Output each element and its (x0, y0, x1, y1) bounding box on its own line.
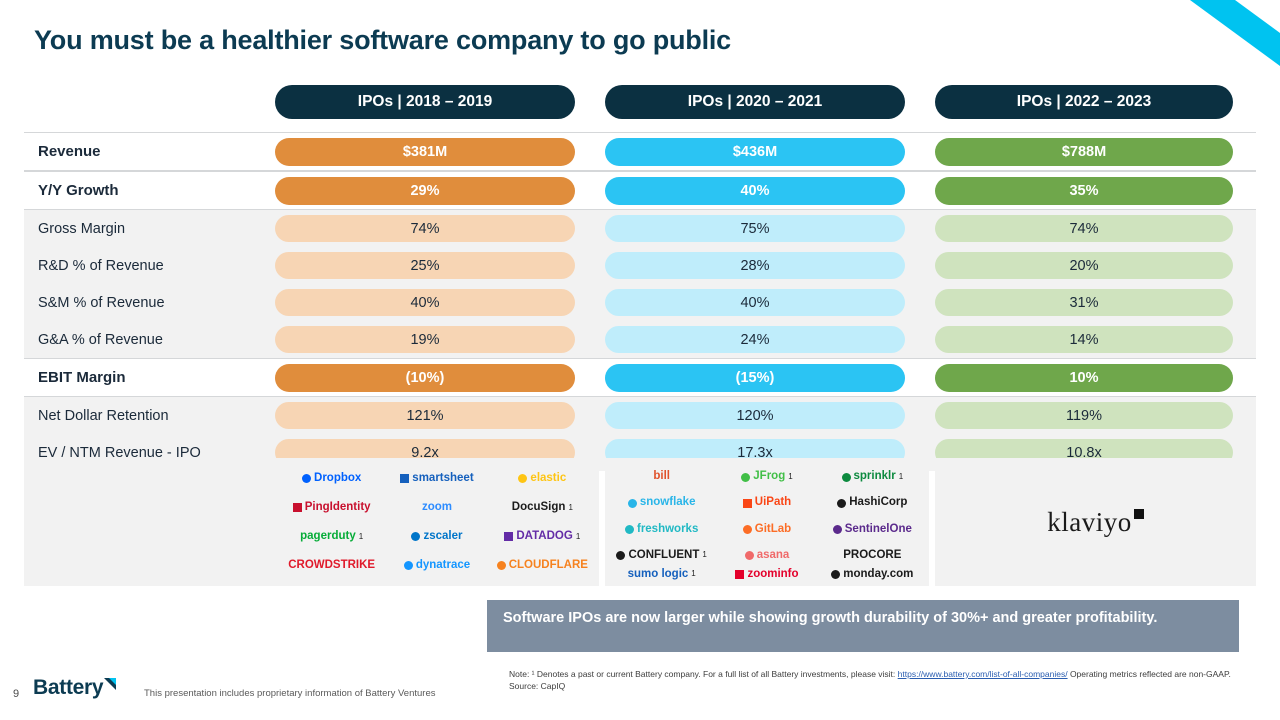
logo-item: CONFLUENT1 (616, 550, 706, 562)
logo-label: HashiCorp (849, 497, 907, 509)
logo-item: DocuSign1 (512, 502, 573, 514)
page-title: You must be a healthier software company… (34, 25, 731, 56)
table-cell: 120% (605, 402, 905, 429)
logo-item: zoom (422, 502, 452, 514)
logo-item: elastic (518, 473, 566, 485)
logo-label: freshworks (637, 524, 698, 536)
logo-glyph-icon (842, 473, 851, 482)
logo-label: dynatrace (416, 560, 470, 572)
logo-footnote-marker: 1 (691, 570, 695, 578)
logo-item: SentinelOne (833, 524, 912, 536)
table-cell: 29% (275, 177, 575, 205)
source-note-prefix: Note: ¹ Denotes a past or current Batter… (509, 669, 895, 679)
logo-glyph-icon (411, 532, 420, 541)
logo-glyph-icon (741, 473, 750, 482)
logo-item: dynatrace (404, 560, 470, 572)
logo-label: zscaler (423, 531, 462, 543)
logo-glyph-icon (833, 525, 842, 534)
table-cell: 24% (605, 326, 905, 353)
logo-item: GitLab (743, 524, 791, 536)
logo-glyph-icon (616, 551, 625, 560)
logo-item: HashiCorp (837, 497, 907, 509)
logo-glyph-icon (504, 532, 513, 541)
logo-label: GitLab (755, 524, 791, 536)
metrics-table: Revenue$381M$436M$788MY/Y Growth29%40%35… (24, 132, 1256, 471)
row-label: G&A % of Revenue (24, 332, 275, 348)
table-row: EBIT Margin(10%)(15%)10% (24, 358, 1256, 397)
logo-item: asana (745, 550, 790, 562)
table-row: Gross Margin74%75%74% (24, 210, 1256, 247)
logo-footnote-marker: 1 (576, 533, 580, 541)
logo-label: PROCORE (843, 550, 901, 562)
logo-glyph-icon (302, 474, 311, 483)
logo-section: DropboxsmartsheetelasticPingIdentityzoom… (24, 458, 1256, 586)
logo-label: SentinelOne (845, 524, 912, 536)
table-row: R&D % of Revenue25%28%20% (24, 247, 1256, 284)
logo-label: sumo logic (628, 569, 689, 581)
logo-glyph-icon (745, 551, 754, 560)
logo-glyph-icon (293, 503, 302, 512)
logo-footnote-marker: 1 (568, 504, 572, 512)
logo-grid-2018-2019: DropboxsmartsheetelasticPingIdentityzoom… (275, 458, 599, 586)
logo-item: DATADOG1 (504, 531, 580, 543)
corner-accent-white (1235, 0, 1280, 33)
logo-item: PingIdentity (293, 502, 371, 514)
logo-glyph-icon (518, 474, 527, 483)
logo-grid-2022-2023: klaviyo (935, 458, 1256, 586)
logo-footnote-marker: 1 (702, 551, 706, 559)
logo-grid-2020-2021: billJFrog1sprinklr1snowflakeUiPathHashiC… (605, 458, 929, 586)
callout-banner: Software IPOs are now larger while showi… (487, 600, 1239, 652)
logo-item: snowflake (628, 497, 696, 509)
table-cell: 10% (935, 364, 1233, 392)
logo-item: pagerduty1 (300, 531, 363, 543)
table-cell: 31% (935, 289, 1233, 316)
logo-footnote-marker: 1 (899, 473, 903, 481)
logo-item: PROCORE (843, 550, 901, 562)
logo-footnote-marker: 1 (788, 473, 792, 481)
brand-name: Battery (33, 676, 103, 700)
footer-disclaimer: This presentation includes proprietary i… (144, 688, 436, 699)
brand-logo: Battery (33, 676, 123, 700)
logo-item: zscaler (411, 531, 462, 543)
table-cell: (10%) (275, 364, 575, 392)
logo-glyph-icon (831, 570, 840, 579)
table-cell: 35% (935, 177, 1233, 205)
logo-label: CROWDSTRIKE (288, 560, 375, 572)
table-row: G&A % of Revenue19%24%14% (24, 321, 1256, 358)
row-label: S&M % of Revenue (24, 295, 275, 311)
page-number: 9 (13, 688, 19, 700)
corner-accent (1190, 0, 1280, 66)
logo-label: PingIdentity (305, 502, 371, 514)
table-cell: 40% (275, 289, 575, 316)
logo-item: bill (653, 471, 670, 483)
row-label: R&D % of Revenue (24, 258, 275, 274)
logo-item: zoominfo (735, 569, 798, 581)
klaviyo-mark-icon (1134, 509, 1144, 519)
logo-glyph-icon (497, 561, 506, 570)
logo-item: CROWDSTRIKE (288, 560, 375, 572)
logo-label: Dropbox (314, 473, 361, 485)
table-cell: (15%) (605, 364, 905, 392)
row-label: EBIT Margin (24, 369, 275, 386)
logo-item: CLOUDFLARE (497, 560, 588, 572)
table-cell: 25% (275, 252, 575, 279)
logo-label: monday.com (843, 569, 913, 581)
row-label: Net Dollar Retention (24, 408, 275, 424)
table-row: Y/Y Growth29%40%35% (24, 171, 1256, 210)
source-note: Note: ¹ Denotes a past or current Batter… (509, 668, 1249, 693)
logo-label: asana (757, 550, 790, 562)
table-cell: 28% (605, 252, 905, 279)
table-cell: 121% (275, 402, 575, 429)
logo-glyph-icon (400, 474, 409, 483)
logo-item: smartsheet (400, 473, 473, 485)
logo-label: CONFLUENT (628, 550, 699, 562)
table-cell: 74% (275, 215, 575, 242)
row-label: Gross Margin (24, 221, 275, 237)
logo-label: sprinklr (854, 471, 896, 483)
table-cell: $381M (275, 138, 575, 166)
table-cell: 40% (605, 289, 905, 316)
logo-item: freshworks (625, 524, 698, 536)
column-header-2018-2019: IPOs | 2018 – 2019 (275, 85, 575, 119)
table-cell: $436M (605, 138, 905, 166)
logo-item: UiPath (743, 497, 791, 509)
logo-label: bill (653, 471, 670, 483)
logo-item: klaviyo (1047, 507, 1144, 538)
logo-label: DocuSign (512, 502, 566, 514)
column-header-2022-2023: IPOs | 2022 – 2023 (935, 85, 1233, 119)
logo-label: DATADOG (516, 531, 572, 543)
source-note-suffix: Operating metrics reflected are non-GAAP… (1070, 669, 1231, 679)
logo-label: elastic (530, 473, 566, 485)
logo-label: pagerduty (300, 531, 356, 543)
row-label: Y/Y Growth (24, 182, 275, 199)
logo-item: monday.com (831, 569, 913, 581)
logo-item: sprinklr1 (842, 471, 904, 483)
table-cell: 119% (935, 402, 1233, 429)
logo-glyph-icon (735, 570, 744, 579)
table-cell: 75% (605, 215, 905, 242)
logo-item: Dropbox (302, 473, 361, 485)
logo-glyph-icon (404, 561, 413, 570)
table-row: Net Dollar Retention121%120%119% (24, 397, 1256, 434)
logo-label: klaviyo (1047, 507, 1132, 538)
source-note-link[interactable]: https://www.battery.com/list-of-all-comp… (898, 669, 1068, 679)
column-header-2020-2021: IPOs | 2020 – 2021 (605, 85, 905, 119)
logo-glyph-icon (628, 499, 637, 508)
logo-item: sumo logic1 (628, 569, 696, 581)
logo-label: smartsheet (412, 473, 473, 485)
logo-footnote-marker: 1 (359, 533, 363, 541)
logo-glyph-icon (743, 499, 752, 508)
table-cell: 14% (935, 326, 1233, 353)
table-cell: $788M (935, 138, 1233, 166)
table-cell: 19% (275, 326, 575, 353)
logo-label: JFrog (753, 471, 785, 483)
logo-glyph-icon (743, 525, 752, 534)
logo-label: zoom (422, 502, 452, 514)
logo-glyph-icon (625, 525, 634, 534)
table-row: Revenue$381M$436M$788M (24, 132, 1256, 171)
logo-label: CLOUDFLARE (509, 560, 588, 572)
logo-item: JFrog1 (741, 471, 792, 483)
source-note-source: Source: CapIQ (509, 681, 565, 691)
logo-label: snowflake (640, 497, 696, 509)
table-cell: 74% (935, 215, 1233, 242)
table-row: S&M % of Revenue40%40%31% (24, 284, 1256, 321)
logo-label: zoominfo (747, 569, 798, 581)
row-label: Revenue (24, 143, 275, 160)
table-cell: 40% (605, 177, 905, 205)
brand-mark-cyan-icon (109, 678, 116, 685)
logo-glyph-icon (837, 499, 846, 508)
logo-label: UiPath (755, 497, 791, 509)
table-cell: 20% (935, 252, 1233, 279)
